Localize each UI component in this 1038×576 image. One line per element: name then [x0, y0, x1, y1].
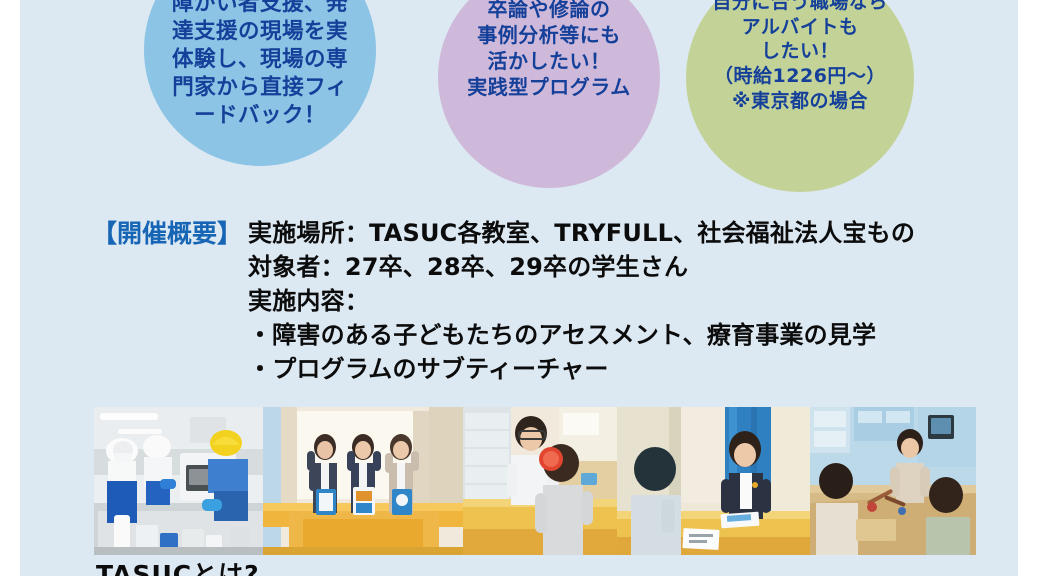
bubble-thesis-casework: 卒論や修論の 事例分析等にも 活かしたい！ 実践型プログラム	[438, 0, 660, 188]
detail-line-audience: 対象者：27卒、28卒、29卒の学生さん	[248, 250, 992, 284]
bubble-support-experience: 障がい者支援、発 達支援の現場を実 体験し、現場の専 門家から直接フィ ードバッ…	[144, 0, 376, 166]
bottom-caption: TASUCとは?	[96, 561, 260, 576]
photo-craft-workshop-image	[810, 407, 976, 555]
detail-line-content: 実施内容：	[248, 284, 992, 318]
bubble-thesis-casework-text: 卒論や修論の 事例分析等にも 活かしたい！ 実践型プログラム	[438, 0, 660, 100]
photo-three-students-panels	[263, 407, 463, 555]
poster-root: 障がい者支援、発 達支援の現場を実 体験し、現場の専 門家から直接フィ ードバッ…	[0, 0, 1038, 576]
photo-staff-desk-session-image	[617, 407, 810, 555]
photo-kitchen-training-image	[94, 407, 263, 555]
photo-staff-and-child-cards-image	[463, 407, 617, 555]
photo-three-students-panels-image	[263, 407, 463, 555]
event-details-heading: 【開催概要】	[92, 216, 248, 252]
poster-sheet: 障がい者支援、発 達支援の現場を実 体験し、現場の専 門家から直接フィ ードバッ…	[20, 0, 1018, 576]
detail-line-bullet-1: ・障害のある子どもたちのアセスメント、療育事業の見学	[248, 318, 992, 352]
detail-line-bullet-2: ・プログラムのサブティーチャー	[248, 352, 992, 386]
bubble-support-experience-text: 障がい者支援、発 達支援の現場を実 体験し、現場の専 門家から直接フィ ードバッ…	[144, 0, 376, 130]
event-details-block: 【開催概要】 実施場所：TASUC各教室、TRYFULL、社会福祉法人宝もの 対…	[92, 216, 992, 386]
photo-staff-and-child-cards	[463, 407, 617, 555]
detail-line-venue: 実施場所：TASUC各教室、TRYFULL、社会福祉法人宝もの	[248, 216, 992, 250]
photo-staff-desk-session	[617, 407, 810, 555]
bubble-parttime-wage: 自分に合う職場なら アルバイトも したい！ （時給1226円〜） ※東京都の場合	[686, 0, 914, 192]
event-details-body: 実施場所：TASUC各教室、TRYFULL、社会福祉法人宝もの 対象者：27卒、…	[248, 216, 992, 386]
photo-kitchen-training	[94, 407, 263, 555]
photo-strip	[94, 407, 976, 555]
bubble-parttime-wage-text: 自分に合う職場なら アルバイトも したい！ （時給1226円〜） ※東京都の場合	[686, 0, 914, 113]
photo-craft-workshop	[810, 407, 976, 555]
